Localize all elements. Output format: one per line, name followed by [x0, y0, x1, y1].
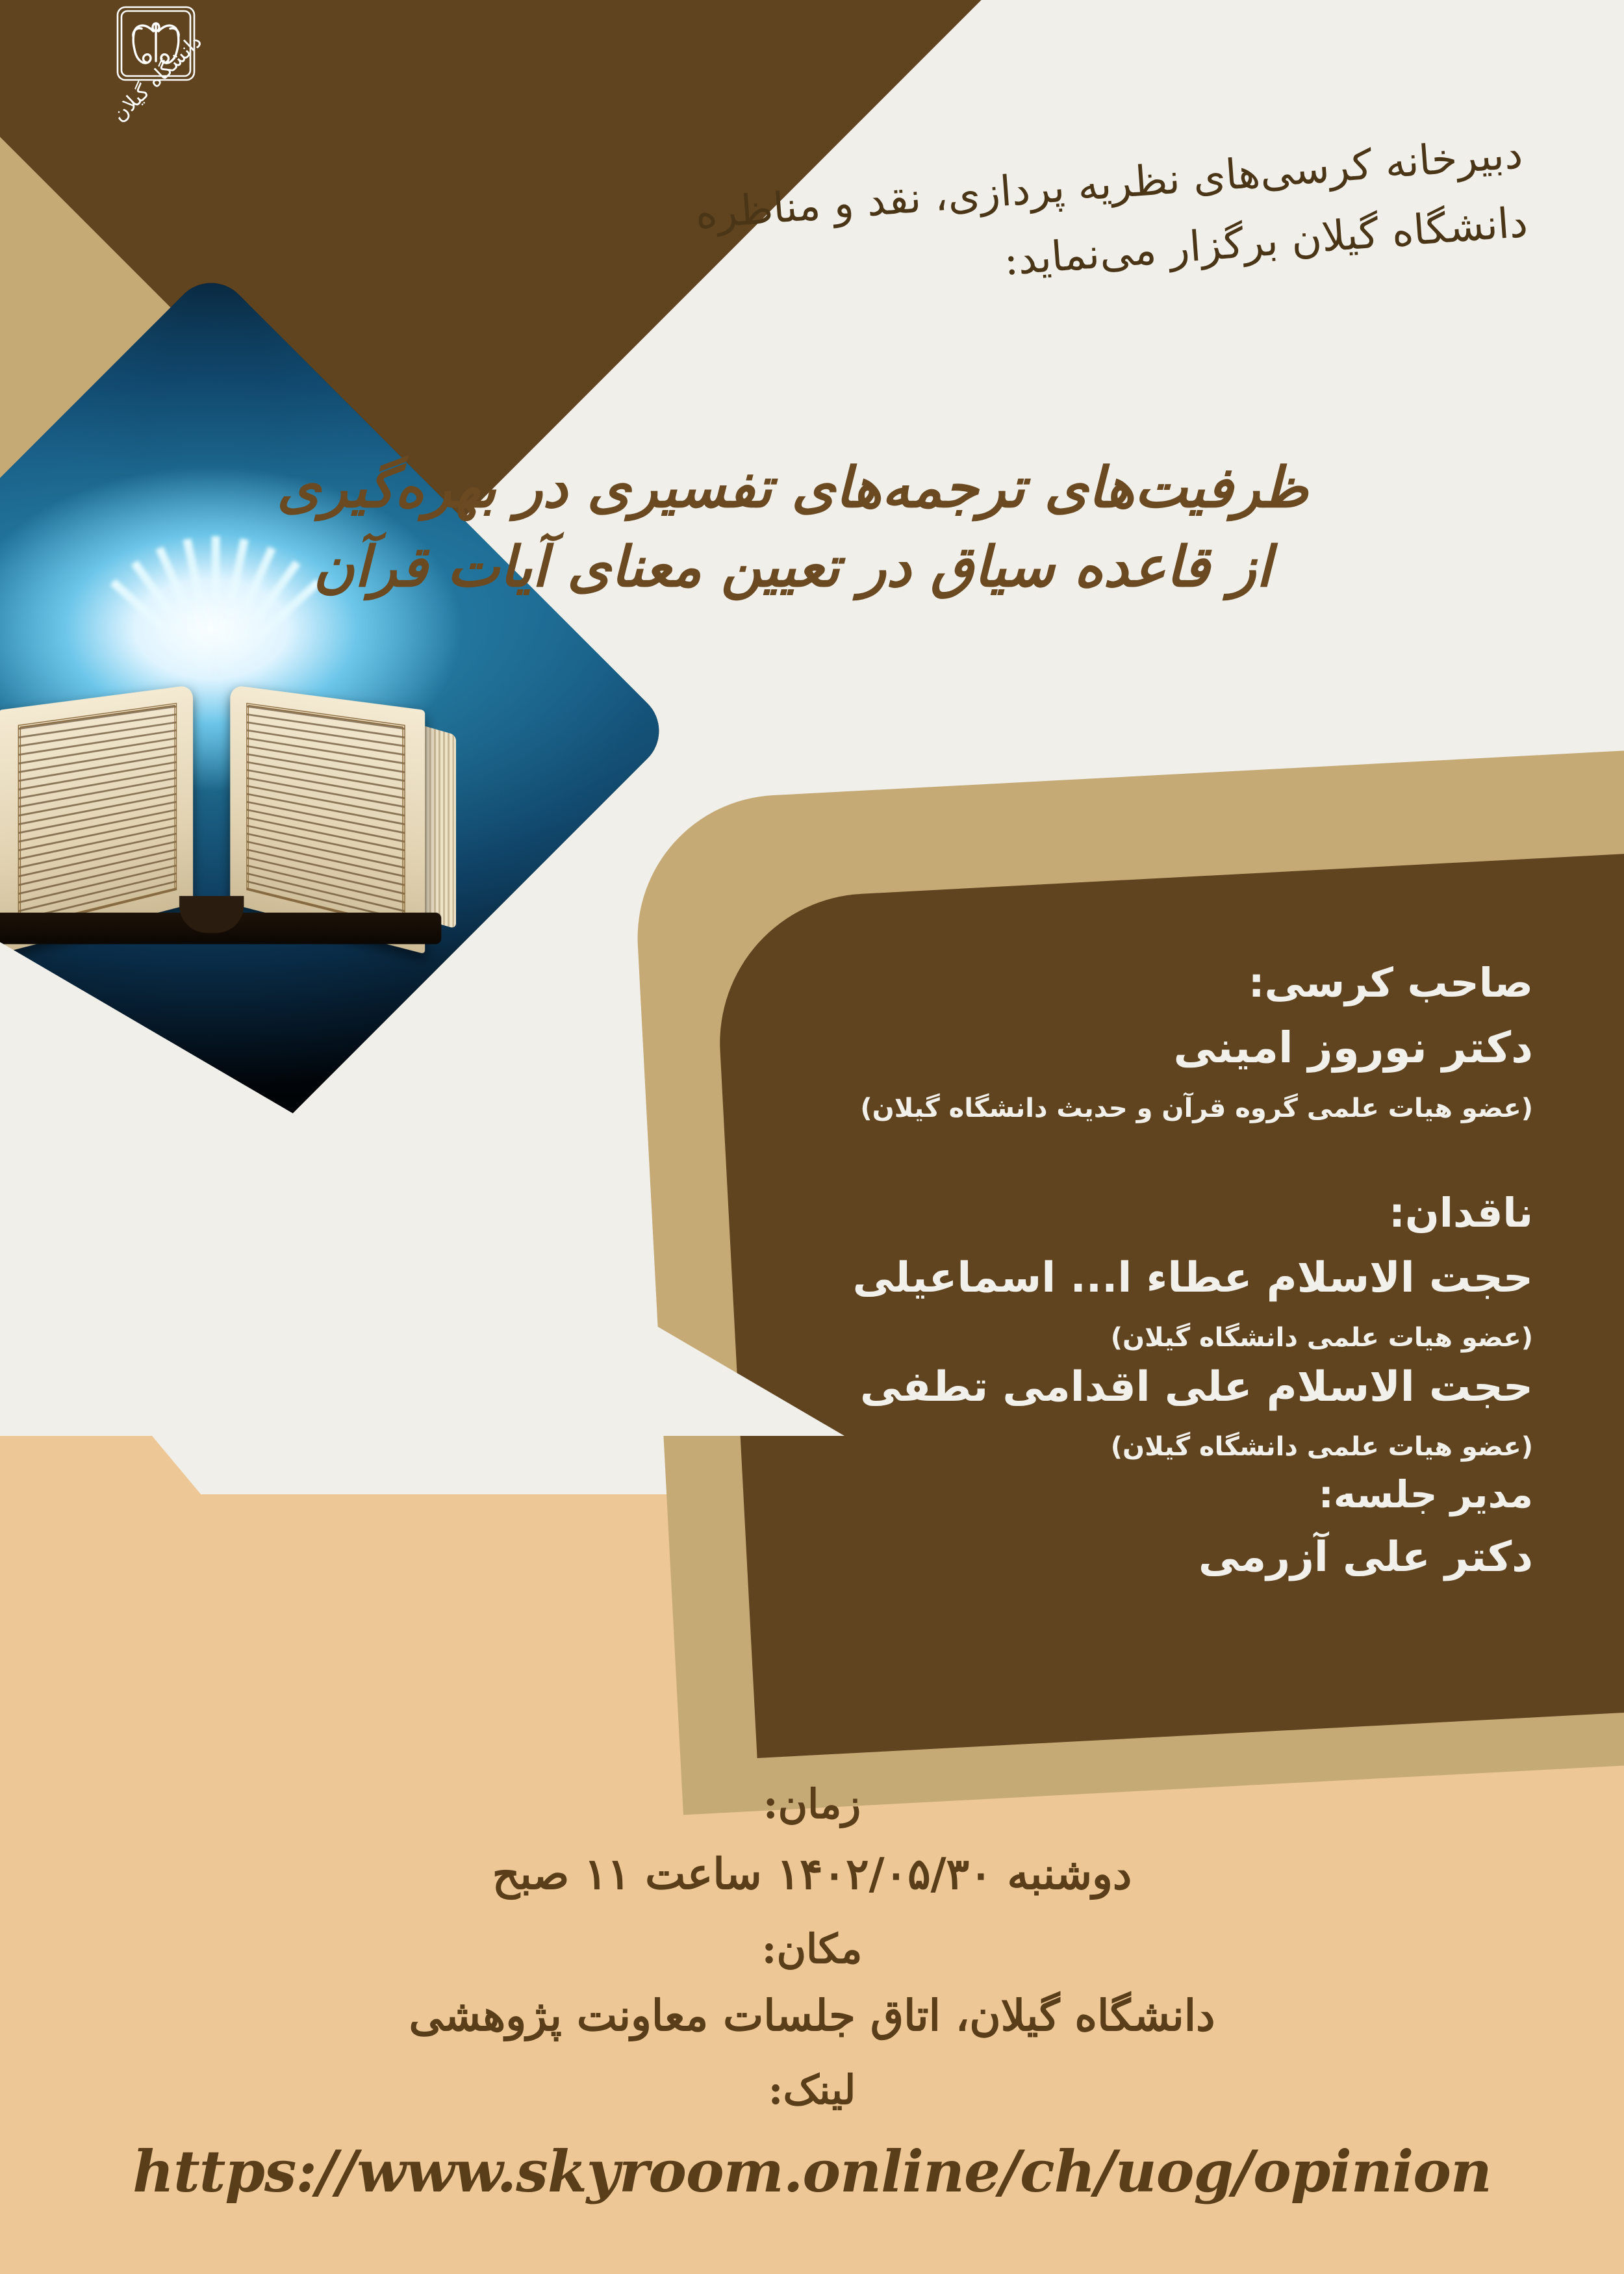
chair-affiliation: (عضو هیات علمی گروه قرآن و حدیث دانشگاه …	[754, 1093, 1533, 1123]
chair-name: دکتر نوروز امینی	[754, 1023, 1533, 1073]
title-line-2: از قاعده سیاق در تعیین معنای آیات قرآن	[313, 535, 1271, 600]
place-label: مکان:	[0, 1925, 1624, 1973]
time-value: دوشنبه ۱۴۰۲/۰۵/۳۰ ساعت ۱۱ صبح	[0, 1848, 1624, 1899]
event-poster: دانشگاه گیلان دبیرخانه کرسی‌های نظریه پر…	[0, 0, 1624, 2274]
chair-label: صاحب کرسی:	[754, 959, 1533, 1006]
critic-affiliation: (عضو هیات علمی دانشگاه گیلان)	[702, 1432, 1533, 1462]
critics-label: ناقدان:	[754, 1189, 1533, 1236]
meeting-link[interactable]: https://www.skyroom.online/ch/uog/opinio…	[0, 2138, 1624, 2205]
link-label: لینک:	[0, 2066, 1624, 2114]
critic-name: حجت الاسلام عطاء ا... اسماعیلی	[702, 1254, 1533, 1302]
time-label: زمان:	[0, 1780, 1624, 1828]
moderator-name: دکتر علی آزرمی	[754, 1533, 1533, 1581]
place-value: دانشگاه گیلان، اتاق جلسات معاونت پژوهشی	[0, 1990, 1624, 2041]
header-line-2: دانشگاه گیلان برگزار می‌نماید:	[1002, 198, 1529, 285]
critic-affiliation: (عضو هیات علمی دانشگاه گیلان)	[702, 1323, 1533, 1353]
page-title: ظرفیت‌های ترجمه‌های تفسیری در بهره‌گیری …	[39, 448, 1546, 607]
book-icon	[0, 650, 428, 927]
title-line-1: ظرفیت‌های ترجمه‌های تفسیری در بهره‌گیری	[277, 455, 1308, 520]
critic-name: حجت الاسلام علی اقدامی تطفی	[702, 1363, 1533, 1411]
moderator-label: مدیر جلسه:	[754, 1472, 1533, 1516]
